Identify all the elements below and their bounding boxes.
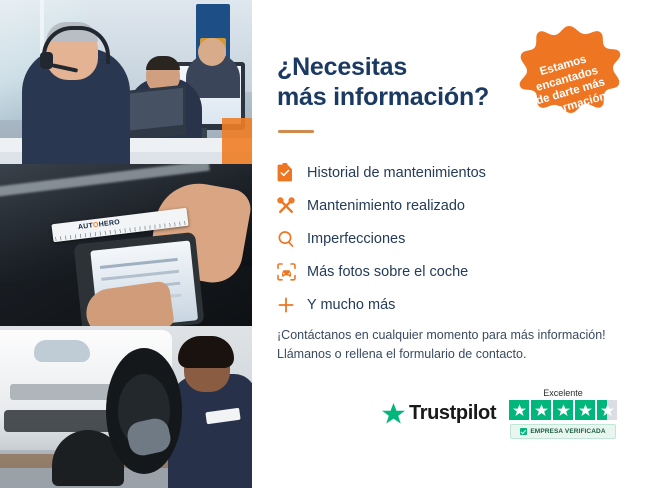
mechanic-wheel-photo: [0, 326, 252, 488]
feature-list: Historial de mantenimientos Mantenimient…: [277, 156, 627, 321]
trustpilot-rating: Excelente EMPRESA VERIFICADA: [494, 388, 632, 439]
plus-icon: [277, 294, 307, 316]
autohero-brand-text: AUTOHERO: [78, 219, 121, 231]
content-panel: ¿Necesitas más información? Estamos enca…: [252, 0, 650, 488]
star-rating: [494, 400, 632, 420]
trustpilot-star-icon: [382, 403, 405, 425]
magnifier-icon: [277, 228, 307, 250]
photo-collage: AUTOHERO: [0, 0, 252, 488]
headset-icon: [490, 37, 512, 56]
verified-badge: EMPRESA VERIFICADA: [510, 424, 616, 439]
title-line-1: ¿Necesitas: [277, 52, 527, 82]
document-check-icon: [277, 162, 307, 184]
trustpilot-logo: Trustpilot: [382, 402, 496, 425]
list-item-label: Más fotos sobre el coche: [307, 264, 468, 280]
list-item: Mantenimiento realizado: [277, 189, 627, 222]
list-item-label: Historial de mantenimientos: [307, 165, 486, 181]
list-item-label: Mantenimiento realizado: [307, 198, 465, 214]
list-item: Más fotos sobre el coche: [277, 255, 627, 288]
car-scan-icon: [277, 261, 307, 283]
contact-line-1: ¡Contáctanos en cualquier momento para m…: [277, 326, 627, 345]
check-square-icon: [520, 428, 527, 435]
verified-label: EMPRESA VERIFICADA: [530, 428, 605, 435]
contact-text: ¡Contáctanos en cualquier momento para m…: [277, 326, 627, 364]
trustpilot-widget[interactable]: Trustpilot Excelente EMPRESA VERIFICADA: [382, 388, 632, 450]
info-card: AUTOHERO ¿Necesitas más información?: [0, 0, 650, 488]
call-center-agents-photo: [0, 0, 252, 164]
title-line-2: más información?: [277, 82, 527, 112]
star-filled: [509, 400, 529, 420]
list-item: Imperfecciones: [277, 222, 627, 255]
star-filled: [531, 400, 551, 420]
list-item-label: Imperfecciones: [307, 231, 405, 247]
tools-cross-icon: [277, 195, 307, 217]
list-item: Y mucho más: [277, 288, 627, 321]
star-half: [597, 400, 617, 420]
contact-line-2: Llámanos o rellena el formulario de cont…: [277, 345, 627, 364]
rating-label: Excelente: [494, 388, 632, 398]
trustpilot-name: Trustpilot: [409, 402, 496, 425]
star-filled: [553, 400, 573, 420]
page-title: ¿Necesitas más información?: [277, 52, 527, 112]
list-item-label: Y mucho más: [307, 297, 395, 313]
title-underline: [278, 130, 314, 133]
list-item: Historial de mantenimientos: [277, 156, 627, 189]
promo-badge: Estamos encantados de darte más informac…: [505, 22, 633, 150]
star-filled: [575, 400, 595, 420]
car-inspection-ruler-photo: AUTOHERO: [0, 164, 252, 326]
